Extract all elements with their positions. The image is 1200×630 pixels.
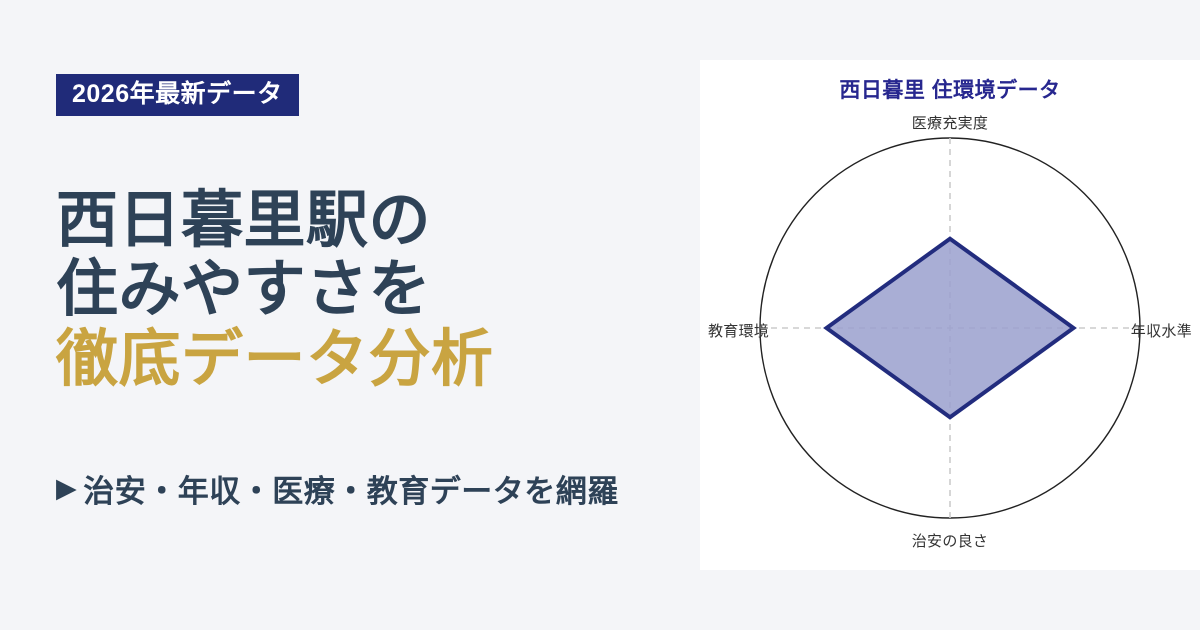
radar-chart: 医療充実度 年収水準 治安の良さ 教育環境 bbox=[700, 60, 1200, 570]
radar-axis-label-right: 年収水準 bbox=[1131, 320, 1192, 341]
page-title: 西日暮里駅の 住みやすさを 徹底データ分析 bbox=[56, 186, 676, 394]
triangle-marker-icon: ▶ bbox=[56, 475, 77, 502]
radar-axis-label-left: 教育環境 bbox=[708, 320, 769, 341]
subtitle: ▶ 治安・年収・医療・教育データを網羅 bbox=[56, 466, 619, 511]
radar-axis-label-top: 医療充実度 bbox=[700, 112, 1200, 133]
left-editorial-panel: 2026年最新データ 西日暮里駅の 住みやすさを 徹底データ分析 ▶ 治安・年収… bbox=[0, 0, 700, 630]
year-badge: 2026年最新データ bbox=[56, 74, 299, 116]
headline-line-2: 住みやすさを bbox=[56, 255, 676, 324]
subtitle-text: 治安・年収・医療・教育データを網羅 bbox=[83, 466, 619, 511]
headline-line-1: 西日暮里駅の bbox=[56, 186, 676, 255]
radar-data-polygon bbox=[827, 239, 1074, 418]
radar-chart-svg bbox=[700, 60, 1200, 570]
chart-card: 西日暮里 住環境データ 医療充実度 年収水準 治安の良さ 教育環境 bbox=[700, 60, 1200, 570]
headline-line-3: 徹底データ分析 bbox=[56, 325, 676, 394]
radar-axis-label-bottom: 治安の良さ bbox=[700, 530, 1200, 551]
